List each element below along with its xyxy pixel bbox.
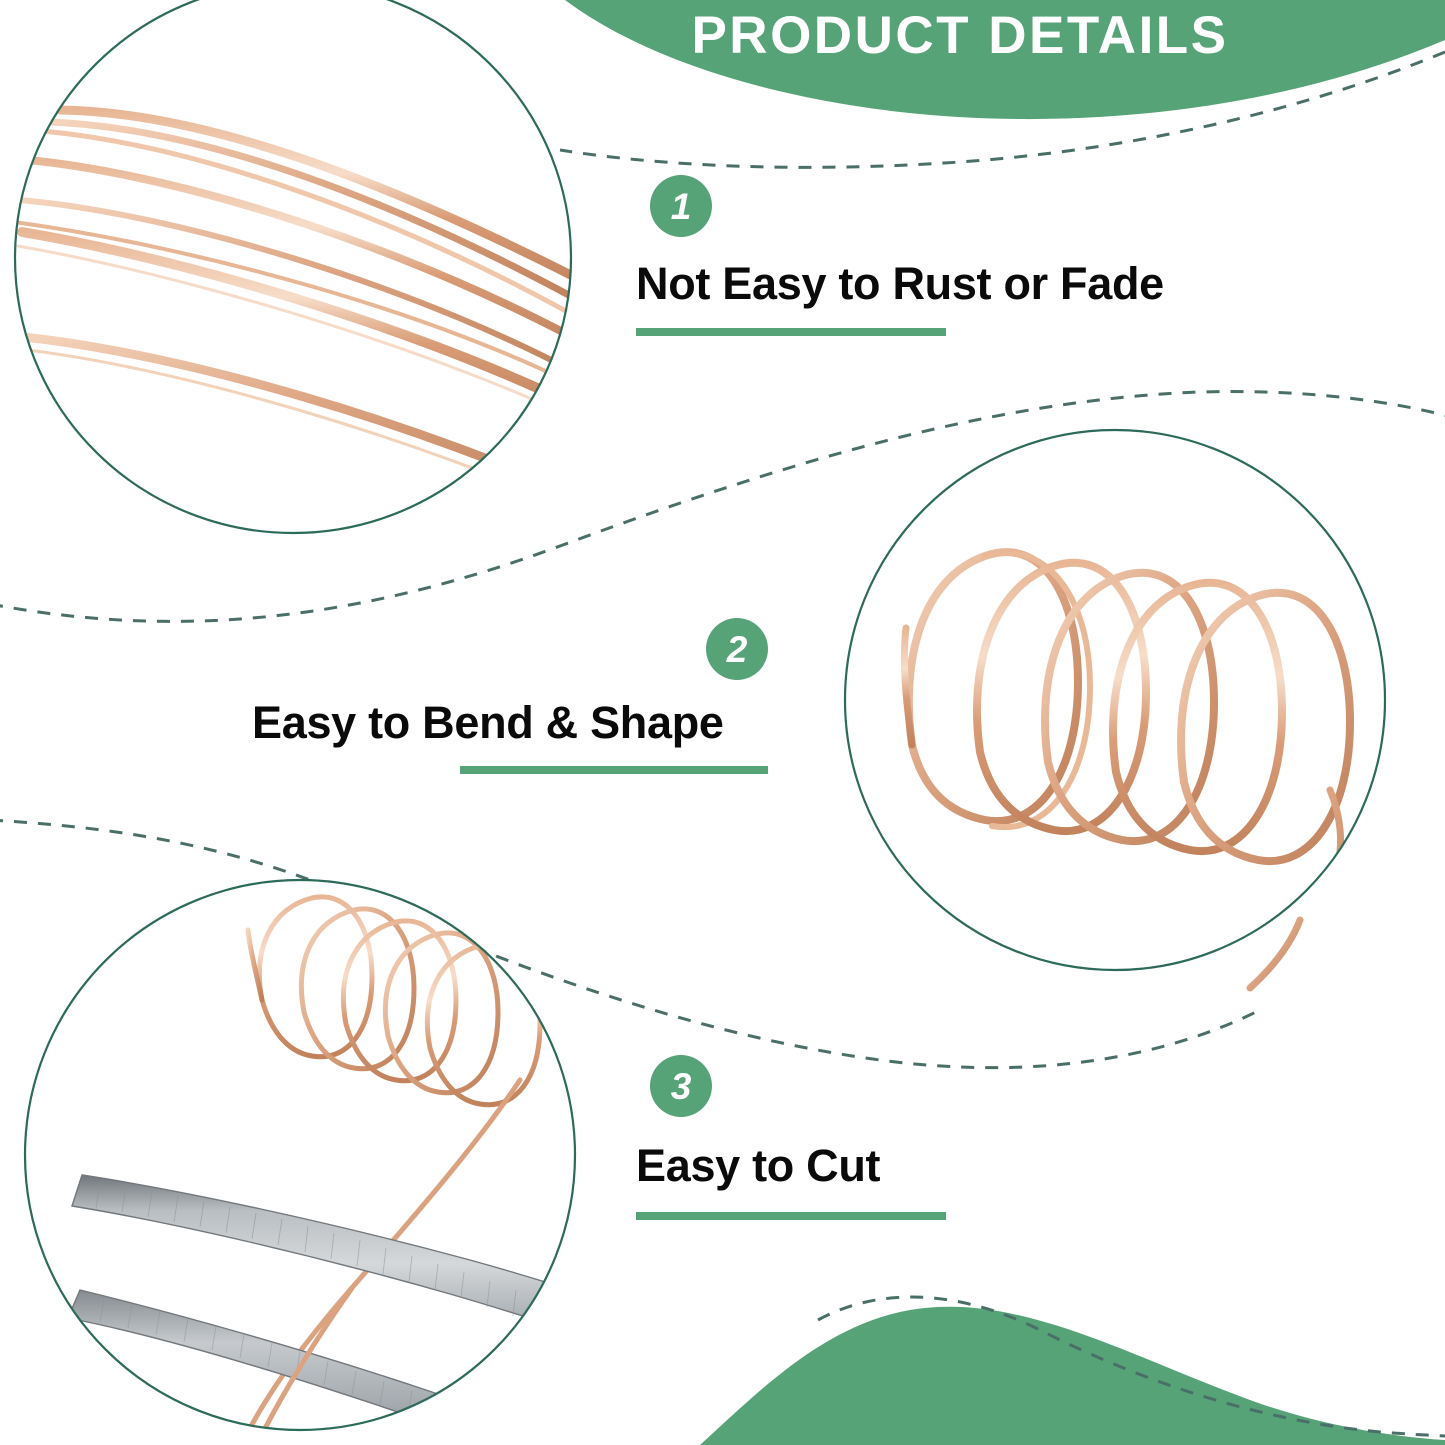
feature-1-title: Not Easy to Rust or Fade <box>636 258 1164 310</box>
feature-1-number-badge: 1 <box>650 175 712 237</box>
product-details-infographic: PRODUCT DETAILS 1 Not Easy to Rust or Fa… <box>0 0 1445 1445</box>
feature-2-title: Easy to Bend & Shape <box>252 697 724 749</box>
feature-1-underline <box>636 328 946 336</box>
feature-3-title: Easy to Cut <box>636 1140 880 1192</box>
bottom-wave-shape <box>700 1307 1445 1445</box>
page-title: PRODUCT DETAILS <box>610 8 1310 64</box>
feature-2-underline <box>460 766 768 774</box>
feature-2-number-badge: 2 <box>706 618 768 680</box>
feature-3-underline <box>636 1212 946 1220</box>
photo-scissors-cutting-wire <box>20 875 700 1445</box>
photo-copper-wire-coil <box>840 425 1400 1035</box>
photo-copper-wire-strands <box>10 0 600 540</box>
feature-3-number-badge: 3 <box>650 1055 712 1117</box>
